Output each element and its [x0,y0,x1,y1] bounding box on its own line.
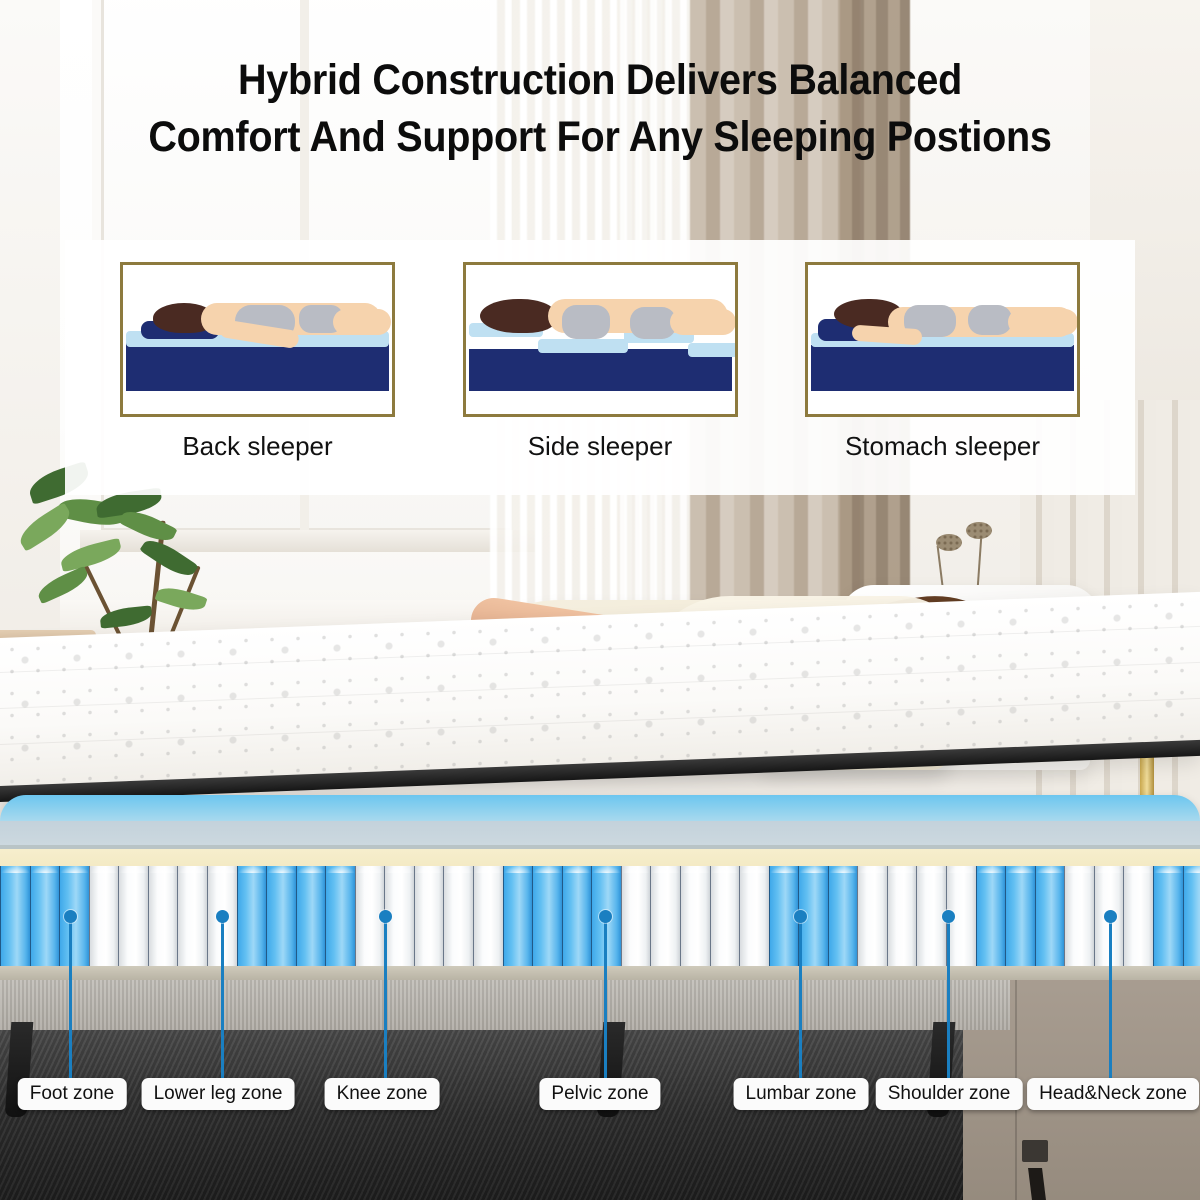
pocket-coil [976,866,1006,976]
back-sleeper-diagram [120,262,395,417]
pocket-coil [680,866,710,976]
pocket-coil [1064,866,1094,976]
sleeper-card-side: Side sleeper [463,262,738,497]
pocket-coil [562,866,592,976]
zone-leader-line [799,915,802,1078]
headline-line-1: Hybrid Construction Delivers Balanced [48,52,1152,109]
pocket-coil [266,866,296,976]
pocket-coil [857,866,887,976]
pocket-coil [710,866,740,976]
pocket-coil [414,866,444,976]
pocket-coil [739,866,769,976]
zone-label-5: Lumbar zone [734,1078,869,1110]
pocket-coil [0,866,30,976]
pocket-coil [118,866,148,976]
zone-leader-line [384,915,387,1078]
pocket-coil [1153,866,1183,976]
area-rug [0,1020,1015,1200]
pocket-coil [325,866,355,976]
pocket-coil [148,866,178,976]
sleeper-card-back: Back sleeper [120,262,395,497]
pocket-coil [237,866,267,976]
zone-label-1: Foot zone [18,1078,127,1110]
pocket-coil [916,866,946,976]
zone-marker-dot [1104,910,1117,923]
headline-line-2: Comfort And Support For Any Sleeping Pos… [48,109,1152,166]
zone-label-2: Lower leg zone [142,1078,295,1110]
zone-marker-dot [599,910,612,923]
pocket-coil [532,866,562,976]
nightstand-badge [1022,1140,1048,1162]
zone-marker-dot [942,910,955,923]
pocket-coil [650,866,680,976]
pocket-coil [828,866,858,976]
pocket-coil [1123,866,1153,976]
side-sleeper-diagram [463,262,738,417]
pocket-coil [1005,866,1035,976]
sleeper-caption: Stomach sleeper [805,431,1080,462]
layer-cooling-gel-top [0,795,1200,821]
pocket-coil [443,866,473,976]
sleeper-caption: Side sleeper [463,431,738,462]
dried-flower-head [936,534,962,551]
pocket-coil [769,866,799,976]
page-title: Hybrid Construction Delivers Balanced Co… [0,52,1200,166]
zone-leader-line [1109,915,1112,1078]
pocket-coil [296,866,326,976]
pocket-coil [30,866,60,976]
zone-label-4: Pelvic zone [539,1078,660,1110]
pocket-coil [177,866,207,976]
zone-label-6: Shoulder zone [876,1078,1023,1110]
zone-marker-dot [794,910,807,923]
pocket-coil [887,866,917,976]
zone-marker-dot [64,910,77,923]
zone-marker-dot [379,910,392,923]
sleeper-cards: Back sleeper Side sleeper [65,262,1135,497]
sleeper-caption: Back sleeper [120,431,395,462]
pocket-coil [1183,866,1200,976]
sleeper-card-stomach: Stomach sleeper [805,262,1080,497]
pocket-coil [621,866,651,976]
zone-leader-line [69,915,72,1078]
product-marketing-image: Foot zoneLower leg zoneKnee zonePelvic z… [0,0,1200,1200]
dried-flower-head [966,522,992,539]
zone-leader-line [221,915,224,1078]
zone-label-3: Knee zone [325,1078,440,1110]
zone-leader-line [604,915,607,1078]
layer-breathable [0,821,1200,845]
zone-marker-dot [216,910,229,923]
pocket-coil [89,866,119,976]
zone-leader-line [947,915,950,1078]
pocket-coil [1035,866,1065,976]
zone-label-7: Head&Neck zone [1027,1078,1199,1110]
pocket-coil [503,866,533,976]
stomach-sleeper-diagram [805,262,1080,417]
pocket-coil [473,866,503,976]
coil-base-strip [0,966,1200,980]
